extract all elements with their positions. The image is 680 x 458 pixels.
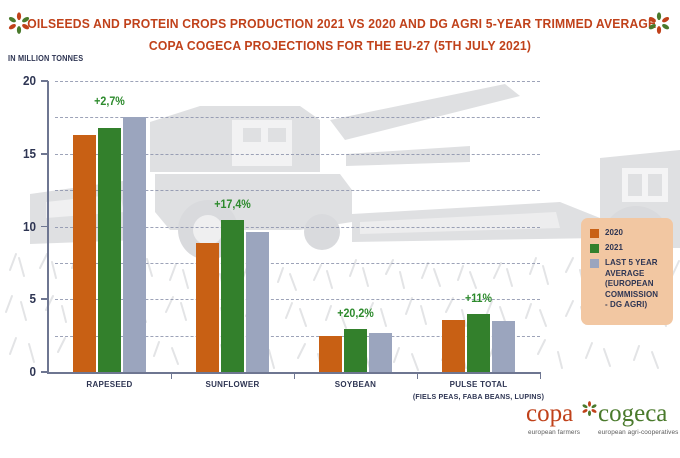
legend-swatch-average bbox=[590, 259, 599, 268]
bar-soybean-last[interactable] bbox=[369, 333, 392, 372]
legend-swatch-2020 bbox=[590, 229, 599, 238]
legend-item[interactable]: LAST 5 YEAR AVERAGE (EUROPEAN COMMISSION… bbox=[590, 257, 665, 310]
x-axis-end-tick bbox=[540, 372, 542, 379]
bar-pulse-total-last[interactable] bbox=[492, 321, 515, 372]
bar-soybean-2021[interactable] bbox=[344, 329, 367, 372]
category-label: SUNFLOWER bbox=[175, 379, 289, 389]
percent-change-label: +20,2% bbox=[304, 308, 405, 320]
chart-canvas: OILSEEDS AND PROTEIN CROPS PRODUCTION 20… bbox=[0, 0, 680, 458]
legend-label-average: LAST 5 YEAR AVERAGE (EUROPEAN COMMISSION… bbox=[605, 257, 662, 310]
legend-item[interactable]: 2021 bbox=[590, 242, 665, 253]
bar-pulse-total-2021[interactable] bbox=[467, 314, 490, 372]
bar-sunflower-2021[interactable] bbox=[221, 220, 244, 372]
category-label: SOYBEAN bbox=[298, 379, 412, 389]
bar-sunflower-2020[interactable] bbox=[196, 243, 219, 372]
bar-soybean-2020[interactable] bbox=[319, 336, 342, 372]
flower-asterisk-icon bbox=[582, 401, 597, 416]
percent-change-label: +11% bbox=[427, 293, 528, 305]
percent-change-label: +17,4% bbox=[181, 199, 282, 211]
logo-copa-tagline: european farmers bbox=[528, 429, 580, 436]
legend-item[interactable]: 2020 bbox=[590, 227, 665, 238]
legend-swatch-2021 bbox=[590, 244, 599, 253]
x-axis-tick bbox=[417, 372, 419, 379]
chart-legend: 2020 2021 LAST 5 YEAR AVERAGE (EUROPEAN … bbox=[581, 218, 673, 325]
bar-pulse-total-2020[interactable] bbox=[442, 320, 465, 372]
logo-wordmark: copa cogeca bbox=[520, 400, 680, 428]
bar-rapeseed-last[interactable] bbox=[123, 117, 146, 372]
bar-rapeseed-2020[interactable] bbox=[73, 135, 96, 372]
logo-cogeca-tagline: european agri-cooperatives bbox=[598, 429, 678, 436]
x-axis-tick bbox=[294, 372, 296, 379]
bar-sunflower-last[interactable] bbox=[246, 232, 269, 372]
bar-rapeseed-2021[interactable] bbox=[98, 128, 121, 372]
percent-change-label: +2,7% bbox=[58, 96, 159, 108]
x-axis-tick bbox=[171, 372, 173, 379]
legend-label-2021: 2021 bbox=[605, 242, 623, 253]
legend-label-2020: 2020 bbox=[605, 227, 623, 238]
logo-copa-text: copa bbox=[526, 400, 573, 428]
logo-cogeca-text: cogeca bbox=[598, 400, 667, 428]
copa-cogeca-logo: copa cogeca european farmers european ag… bbox=[520, 400, 680, 450]
category-label: PULSE TOTAL bbox=[421, 379, 535, 389]
category-label: RAPESEED bbox=[52, 379, 166, 389]
plot-area: 05101520 +2,7%+17,4%+20,2%+11% RAPESEEDS… bbox=[0, 0, 680, 458]
